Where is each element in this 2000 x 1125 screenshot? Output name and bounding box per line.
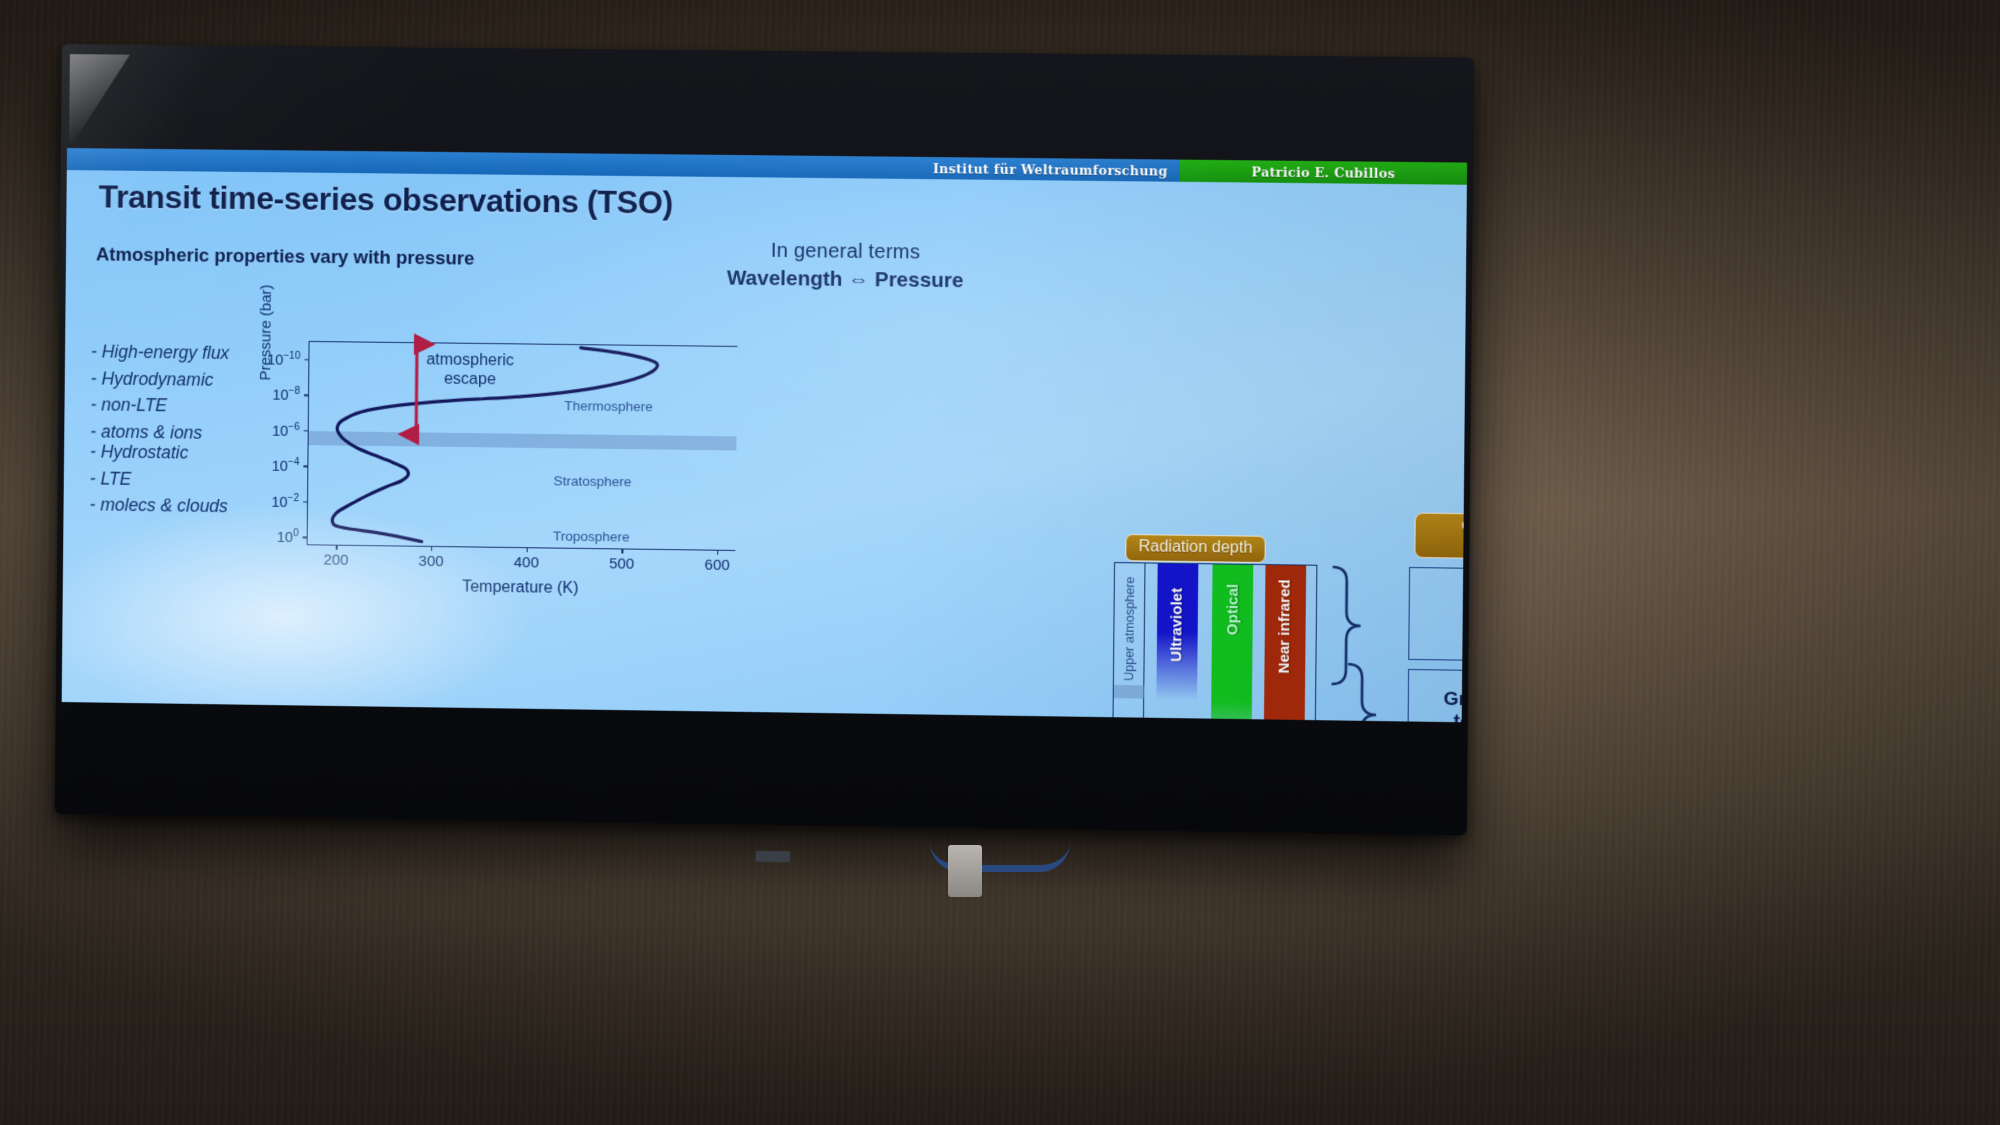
radiation-band-ultraviolet: Ultraviolet	[1155, 564, 1198, 723]
general-terms-block: In general terms Wavelength ⇔ Pressure	[693, 239, 997, 294]
chart-x-tick-label: 600	[704, 557, 729, 574]
bullet-list-upper: - High-energy flux - Hydrodynamic - non-…	[90, 338, 229, 446]
bullet-item: - LTE	[90, 465, 229, 493]
table-header-observatories: Observatories (e.g.)	[1414, 513, 1467, 561]
radiation-depth-panel: Upper atmosphere Lower atmosphere Ultrav…	[1111, 562, 1317, 722]
bullet-list-lower: - Hydrostatic - LTE - molecs & clouds	[89, 438, 228, 520]
radiation-band-optical: Optical	[1210, 564, 1253, 722]
atmospheric-escape-label: atmospheric escape	[405, 350, 536, 390]
atmosphere-boundary-band	[1114, 685, 1145, 699]
radiation-band-label: Ultraviolet	[1168, 588, 1186, 662]
radiation-band-label: Optical	[1224, 584, 1242, 636]
chart-y-tick-label: 100	[277, 528, 299, 546]
bullet-item: - non-LTE	[90, 392, 229, 420]
general-terms-line2: Wavelength ⇔ Pressure	[693, 266, 997, 294]
chart-x-tick-label: 400	[514, 554, 539, 571]
observatory-name-line2: telescopes	[1409, 710, 1468, 722]
observatory-name-hst: HST	[1410, 602, 1468, 627]
bullet-item: - Hydrostatic	[90, 438, 229, 466]
header-author-band: Patricio E. Cubillos	[1180, 160, 1467, 185]
bullet-item: - molecs & clouds	[89, 492, 228, 520]
slide-header-band: Institut für Weltraumforschung Patricio …	[67, 148, 1467, 185]
chart-y-tick-label: 10−4	[272, 457, 300, 475]
observatory-name-line1: Ground-base	[1409, 688, 1467, 713]
chart-y-tick-label: 10−10	[267, 350, 300, 368]
atmosphere-label-column: Upper atmosphere Lower atmosphere	[1112, 563, 1145, 722]
escape-label-line1: atmospheric	[405, 350, 536, 371]
table-header-observatories-line2: (e.g.)	[1424, 535, 1468, 555]
table-row[interactable]: Ground-base telescopes Optical: Hα, HeI …	[1407, 669, 1467, 722]
grouping-braces-icon	[1316, 563, 1413, 723]
chart-x-axis-label: Temperature (K)	[462, 578, 579, 598]
chart-y-tick-label: 10−2	[271, 492, 299, 510]
chart-y-tick-label: 10−8	[272, 386, 300, 404]
layer-label-stratosphere: Stratosphere	[553, 473, 631, 489]
radiation-band-near-infrared: Near infrared	[1263, 565, 1306, 722]
bullet-item: - High-energy flux	[91, 338, 230, 366]
header-institute-band: Institut für Weltraumforschung	[67, 148, 1180, 182]
atmosphere-label-upper: Upper atmosphere	[1122, 576, 1137, 681]
screen-corner-glare	[69, 54, 130, 150]
observatory-name-ground-base: Ground-base telescopes	[1409, 688, 1468, 722]
chart-x-tick-label: 300	[418, 553, 443, 570]
presentation-slide: Institut für Weltraumforschung Patricio …	[62, 148, 1467, 722]
temperature-pressure-chart: 10−1010−810−610−410−2100 200300400500600…	[307, 341, 738, 551]
tv-status-led	[756, 851, 790, 863]
radiation-depth-header: Radiation depth	[1125, 534, 1266, 563]
layer-label-troposphere: Troposphere	[553, 528, 630, 544]
header-author-label: Patricio E. Cubillos	[1251, 164, 1395, 181]
television-display: Institut für Weltraumforschung Patricio …	[55, 44, 1475, 836]
layer-label-thermosphere: Thermosphere	[564, 398, 653, 414]
general-terms-line1: In general terms	[694, 239, 998, 265]
slide-subheading: Atmospheric properties vary with pressur…	[96, 243, 475, 269]
tv-stand	[948, 845, 982, 897]
radiation-band-label: Near infrared	[1276, 579, 1294, 673]
chart-y-tick-label: 10−6	[272, 421, 300, 439]
bullet-item: - Hydrodynamic	[91, 365, 230, 393]
escape-label-line2: escape	[405, 369, 536, 390]
header-institute-label: Institut für Weltraumforschung	[933, 161, 1168, 179]
chart-x-tick-label: 500	[609, 555, 634, 572]
table-row[interactable]: HST FUV: Ly−α, CII, OI NUV: Fe, Mg Optic…	[1408, 567, 1467, 667]
slide-title: Transit time-series observations (TSO)	[98, 178, 673, 221]
chart-x-tick-label: 200	[323, 552, 348, 569]
